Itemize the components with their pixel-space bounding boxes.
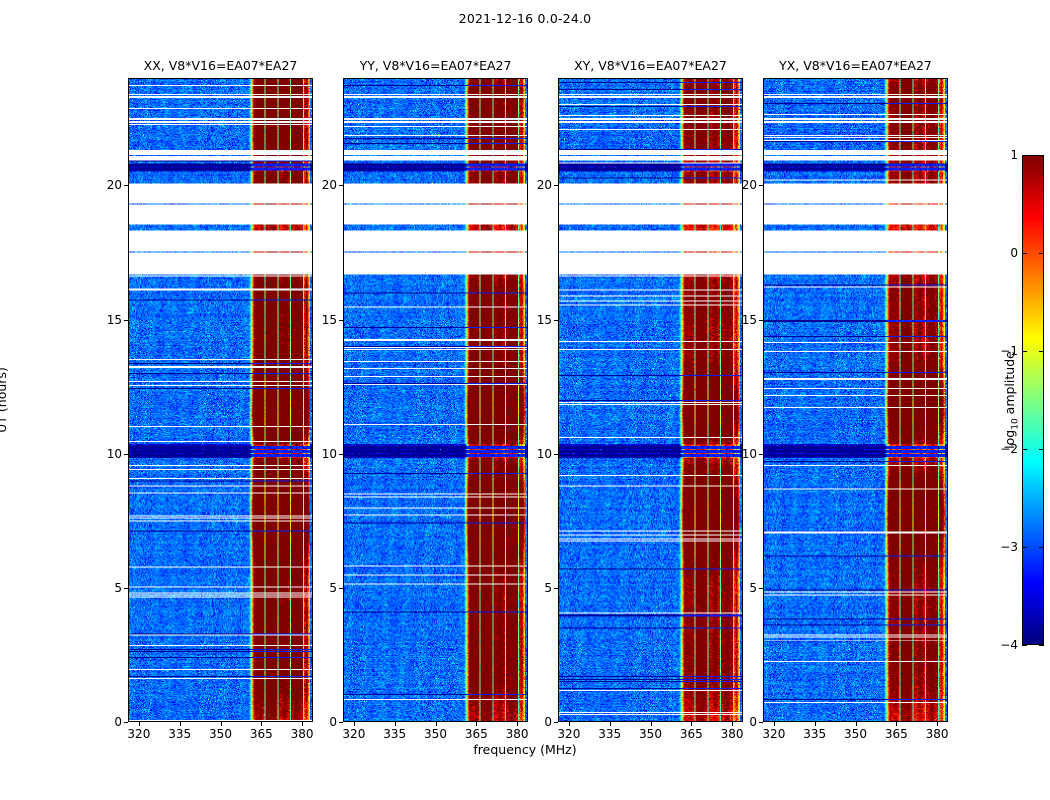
x-tick-label: 320: [127, 727, 150, 741]
colorbar-tick-label: −2: [978, 442, 1018, 456]
panel-xy[interactable]: [558, 78, 743, 722]
y-tick-label: 5: [723, 581, 757, 595]
y-tick-label: 20: [723, 178, 757, 192]
y-tick-mark: [339, 185, 343, 186]
x-tick-label: 365: [885, 727, 908, 741]
colorbar-tick-mark: [1022, 155, 1027, 156]
y-tick-mark: [124, 588, 128, 589]
x-tick-label: 365: [465, 727, 488, 741]
colorbar-tick-mark: [1022, 547, 1027, 548]
y-tick-label: 0: [723, 715, 757, 729]
x-tick-mark: [395, 722, 396, 726]
y-tick-label: 20: [303, 178, 337, 192]
colorbar-label-suffix: amplitude: [1002, 351, 1017, 418]
x-tick-mark: [476, 722, 477, 726]
y-tick-mark: [124, 722, 128, 723]
y-tick-label: 10: [303, 447, 337, 461]
colorbar-tick-label: −4: [978, 638, 1018, 652]
x-tick-label: 350: [424, 727, 447, 741]
y-tick-label: 5: [88, 581, 122, 595]
y-tick-mark: [124, 185, 128, 186]
colorbar-tick-mark: [1022, 351, 1027, 352]
colorbar-tick-label: −1: [978, 344, 1018, 358]
colorbar-tick-mark: [1039, 351, 1044, 352]
x-tick-mark: [774, 722, 775, 726]
figure-canvas: 2021-12-16 0.0-24.0 XX, V8*V16=EA07*EA27…: [0, 0, 1050, 800]
colorbar-tick-mark: [1022, 645, 1027, 646]
y-tick-label: 5: [518, 581, 552, 595]
x-tick-label: 320: [557, 727, 580, 741]
x-tick-mark: [261, 722, 262, 726]
y-tick-mark: [759, 454, 763, 455]
y-tick-mark: [554, 320, 558, 321]
colorbar-tick-mark: [1039, 547, 1044, 548]
y-tick-label: 10: [723, 447, 757, 461]
y-tick-mark: [759, 588, 763, 589]
colorbar[interactable]: [1022, 155, 1044, 645]
x-tick-label: 350: [844, 727, 867, 741]
colorbar-tick-mark: [1022, 253, 1027, 254]
colorbar-tick-label: −3: [978, 540, 1018, 554]
x-tick-mark: [856, 722, 857, 726]
x-tick-label: 365: [250, 727, 273, 741]
y-tick-label: 10: [518, 447, 552, 461]
y-tick-mark: [759, 320, 763, 321]
y-tick-mark: [759, 185, 763, 186]
colorbar-tick-label: 1: [978, 148, 1018, 162]
x-tick-label: 350: [209, 727, 232, 741]
colorbar-label: log10 amplitude: [1002, 351, 1021, 449]
x-tick-mark: [937, 722, 938, 726]
x-tick-mark: [139, 722, 140, 726]
y-tick-label: 15: [518, 313, 552, 327]
y-tick-mark: [554, 454, 558, 455]
spectrogram-xx: [129, 79, 312, 721]
figure-suptitle: 2021-12-16 0.0-24.0: [0, 11, 1050, 26]
y-tick-mark: [339, 722, 343, 723]
y-tick-label: 15: [88, 313, 122, 327]
x-tick-mark: [180, 722, 181, 726]
panel-title-xy: XY, V8*V16=EA07*EA27: [558, 58, 743, 74]
x-tick-label: 380: [721, 727, 744, 741]
x-tick-label: 335: [383, 727, 406, 741]
y-tick-label: 15: [723, 313, 757, 327]
y-tick-label: 10: [88, 447, 122, 461]
x-tick-mark: [651, 722, 652, 726]
spectrogram-xy: [559, 79, 742, 721]
x-tick-mark: [354, 722, 355, 726]
y-tick-mark: [124, 454, 128, 455]
x-tick-mark: [896, 722, 897, 726]
y-tick-label: 5: [303, 581, 337, 595]
x-tick-label: 380: [506, 727, 529, 741]
panel-title-yy: YY, V8*V16=EA07*EA27: [343, 58, 528, 74]
spectrogram-yy: [344, 79, 527, 721]
y-tick-label: 0: [88, 715, 122, 729]
colorbar-tick-mark: [1039, 155, 1044, 156]
y-tick-mark: [554, 588, 558, 589]
x-tick-label: 335: [598, 727, 621, 741]
colorbar-tick-mark: [1039, 449, 1044, 450]
y-tick-label: 0: [303, 715, 337, 729]
x-tick-label: 335: [168, 727, 191, 741]
x-tick-mark: [221, 722, 222, 726]
y-tick-label: 0: [518, 715, 552, 729]
y-axis-label: UT (hours): [0, 367, 9, 433]
y-tick-label: 15: [303, 313, 337, 327]
y-tick-mark: [554, 185, 558, 186]
y-tick-mark: [339, 320, 343, 321]
panel-xx[interactable]: [128, 78, 313, 722]
x-tick-label: 335: [803, 727, 826, 741]
colorbar-tick-mark: [1039, 645, 1044, 646]
x-tick-label: 320: [342, 727, 365, 741]
x-tick-mark: [815, 722, 816, 726]
x-tick-mark: [610, 722, 611, 726]
panel-title-xx: XX, V8*V16=EA07*EA27: [128, 58, 313, 74]
x-tick-mark: [569, 722, 570, 726]
colorbar-tick-mark: [1022, 449, 1027, 450]
x-axis-label: frequency (MHz): [0, 742, 1050, 757]
x-tick-label: 380: [291, 727, 314, 741]
panel-title-yx: YX, V8*V16=EA07*EA27: [763, 58, 948, 74]
x-tick-label: 350: [639, 727, 662, 741]
y-tick-mark: [554, 722, 558, 723]
y-tick-mark: [124, 320, 128, 321]
panel-yx[interactable]: [763, 78, 948, 722]
x-tick-mark: [691, 722, 692, 726]
colorbar-tick-mark: [1039, 253, 1044, 254]
y-tick-label: 20: [88, 178, 122, 192]
y-tick-mark: [339, 588, 343, 589]
spectrogram-yx: [764, 79, 947, 721]
x-tick-label: 380: [926, 727, 949, 741]
colorbar-tick-label: 0: [978, 246, 1018, 260]
y-tick-label: 20: [518, 178, 552, 192]
x-tick-label: 365: [680, 727, 703, 741]
y-tick-mark: [759, 722, 763, 723]
colorbar-label-sub: 10: [1011, 418, 1021, 429]
x-tick-label: 320: [762, 727, 785, 741]
panel-yy[interactable]: [343, 78, 528, 722]
colorbar-gradient: [1023, 156, 1043, 644]
y-tick-mark: [339, 454, 343, 455]
x-tick-mark: [436, 722, 437, 726]
